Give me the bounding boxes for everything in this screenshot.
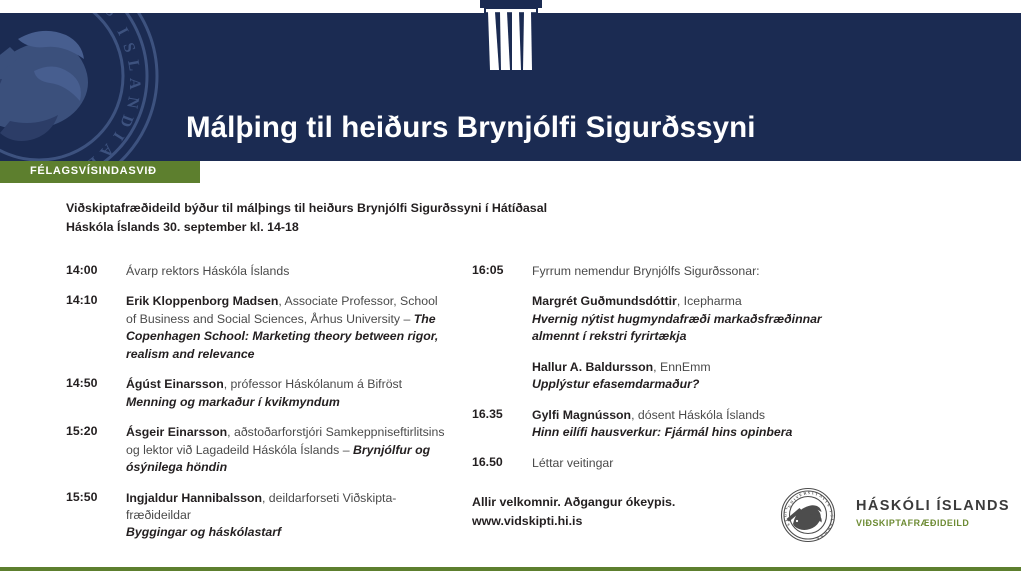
- program-text-talk: Upplýstur efasemdarmaður?: [532, 377, 699, 391]
- university-logo: U N I V E R S I T A T I S I S L A N D A: [780, 487, 1010, 545]
- program-entry: 16.35Gylfi Magnússon, dósent Háskóla Ísl…: [472, 407, 862, 442]
- program-entry-time: 16:05: [472, 263, 528, 277]
- program-entry: 15:50Ingjaldur Hannibalsson, deildarfors…: [66, 490, 446, 542]
- program-column-right: 16:05Fyrrum nemendur Brynjólfs Sigurðsso…: [472, 263, 862, 485]
- program-entry-time: 16.50: [472, 455, 528, 469]
- program-text-plain: Léttar veitingar: [532, 456, 613, 470]
- program-text-role: , dósent Háskóla Íslands: [631, 408, 765, 422]
- svg-text:I: I: [113, 25, 131, 38]
- program-entry: 15:20Ásgeir Einarsson, aðstoðarforstjóri…: [66, 424, 446, 476]
- program-text-plain: Ávarp rektors Háskóla Íslands: [126, 264, 289, 278]
- svg-text:A: A: [126, 78, 143, 90]
- svg-text:A: A: [96, 140, 117, 160]
- footer-website[interactable]: www.vidskipti.hi.is: [472, 512, 675, 531]
- program-text-name: Ágúst Einarsson: [126, 377, 224, 391]
- program-entry-time: 15:20: [66, 424, 122, 438]
- program-text-name: Margrét Guðmundsdóttir: [532, 294, 677, 308]
- program-entry: 14:50Ágúst Einarsson, prófessor Háskólan…: [66, 376, 446, 411]
- temple-columns-icon: [455, 0, 567, 80]
- program-sub-entry: Hallur A. Baldursson, EnnEmmUpplýstur ef…: [532, 359, 862, 394]
- program-text-name: Erik Kloppenborg Madsen: [126, 294, 278, 308]
- svg-text:A: A: [819, 533, 824, 538]
- program-text-talk: Hvernig nýtist hugmyndafræði markaðs­fræ…: [532, 312, 822, 343]
- program-entry: 16.50Léttar veitingar: [472, 455, 862, 472]
- department-tag-label: FÉLAGSVÍSINDASVIÐ: [30, 165, 157, 177]
- program-entry-body: Ávarp rektors Háskóla Íslands: [126, 263, 446, 280]
- svg-text:D: D: [116, 113, 136, 130]
- program-text-role: , EnnEmm: [653, 360, 710, 374]
- svg-text:L: L: [124, 59, 143, 72]
- program-text-name: Ingjaldur Hannibalsson: [126, 491, 262, 505]
- footer-note-line-1: Allir velkomnir. Aðgangur ókeypis.: [472, 493, 675, 512]
- university-seal-icon: U N I V E R S I T A T I S I S L A N D A: [780, 487, 836, 543]
- program-entry-body: Ásgeir Einarsson, aðstoðarforstjóri Samk…: [126, 424, 446, 476]
- university-logo-text: HÁSKÓLI ÍSLANDS VIÐSKIPTAFRÆÐIDEILD: [856, 498, 1010, 528]
- program-text-role: , Icepharma: [677, 294, 742, 308]
- university-seal-watermark-icon: U N I V E R S I T A T I S I S L A N D I: [0, 13, 164, 161]
- bottom-rule: [0, 567, 1021, 571]
- program-text-name: Hallur A. Baldursson: [532, 360, 653, 374]
- program-entry-body: Ágúst Einarsson, prófessor Háskólanum á …: [126, 376, 446, 411]
- program-entry-time: 14:00: [66, 263, 122, 277]
- program-text-talk: Hinn eilífi hausverkur: Fjármál hins opi…: [532, 425, 792, 439]
- svg-text:S: S: [830, 514, 834, 517]
- program-text-plain: Fyrrum nemendur Brynjólfs Sigurðssonar:: [532, 264, 760, 278]
- university-logo-department: VIÐSKIPTAFRÆÐIDEILD: [856, 518, 1010, 528]
- intro-line-1: Viðskiptafræðideild býður til málþings t…: [66, 199, 686, 218]
- svg-text:E: E: [83, 153, 102, 161]
- svg-text:S: S: [101, 13, 119, 20]
- intro-text: Viðskiptafræðideild býður til málþings t…: [66, 199, 686, 237]
- program-text-role: , prófessor Háskólanum á Bifröst: [224, 377, 402, 391]
- program-entry-time: 16.35: [472, 407, 528, 421]
- intro-line-2: Háskóla Íslands 30. september kl. 14-18: [66, 218, 686, 237]
- svg-text:N: N: [123, 95, 142, 110]
- program-entry-body: Fyrrum nemendur Brynjólfs Sigurðssonar:: [532, 263, 862, 280]
- program-entry-time: 14:10: [66, 293, 122, 307]
- footer-note: Allir velkomnir. Aðgangur ókeypis. www.v…: [472, 493, 675, 531]
- program-entry: 16:05Fyrrum nemendur Brynjólfs Sigurðsso…: [472, 263, 862, 280]
- program-entry-body: Ingjaldur Hannibalsson, deildarforseti V…: [126, 490, 446, 542]
- program-entry-time: 14:50: [66, 376, 122, 390]
- department-tag: FÉLAGSVÍSINDASVIÐ: [0, 161, 200, 183]
- svg-text:G: G: [783, 514, 787, 518]
- program-entry-body: Léttar veitingar: [532, 455, 862, 472]
- svg-text:S: S: [119, 41, 138, 55]
- program-sub-entry: Margrét Guðmundsdóttir, IcepharmaHvernig…: [532, 293, 862, 345]
- program-column-left: 14:00Ávarp rektors Háskóla Íslands14:10E…: [66, 263, 446, 555]
- program-entry: 14:10Erik Kloppenborg Madsen, Associate …: [66, 293, 446, 363]
- program-text-name: Ásgeir Einarsson: [126, 425, 227, 439]
- program-entry-body: Erik Kloppenborg Madsen, Associate Profe…: [126, 293, 446, 363]
- program-entry-time: 15:50: [66, 490, 122, 504]
- svg-text:I: I: [109, 129, 127, 143]
- page-title: Málþing til heiðurs Brynjólfi Sigurðssyn…: [186, 113, 756, 143]
- program-text-name: Gylfi Magnússon: [532, 408, 631, 422]
- program-text-talk: Menning og markaður í kvikmyndum: [126, 395, 340, 409]
- university-logo-name: HÁSKÓLI ÍSLANDS: [856, 498, 1010, 514]
- program-entry-body: Gylfi Magnússon, dósent Háskóla ÍslandsH…: [532, 407, 862, 442]
- svg-text:T: T: [815, 492, 819, 497]
- svg-text:R: R: [803, 491, 807, 496]
- program-text-talk: Byggingar og háskólastarf: [126, 525, 281, 539]
- svg-text:S: S: [786, 523, 791, 527]
- program-entry: 14:00Ávarp rektors Háskóla Íslands: [66, 263, 446, 280]
